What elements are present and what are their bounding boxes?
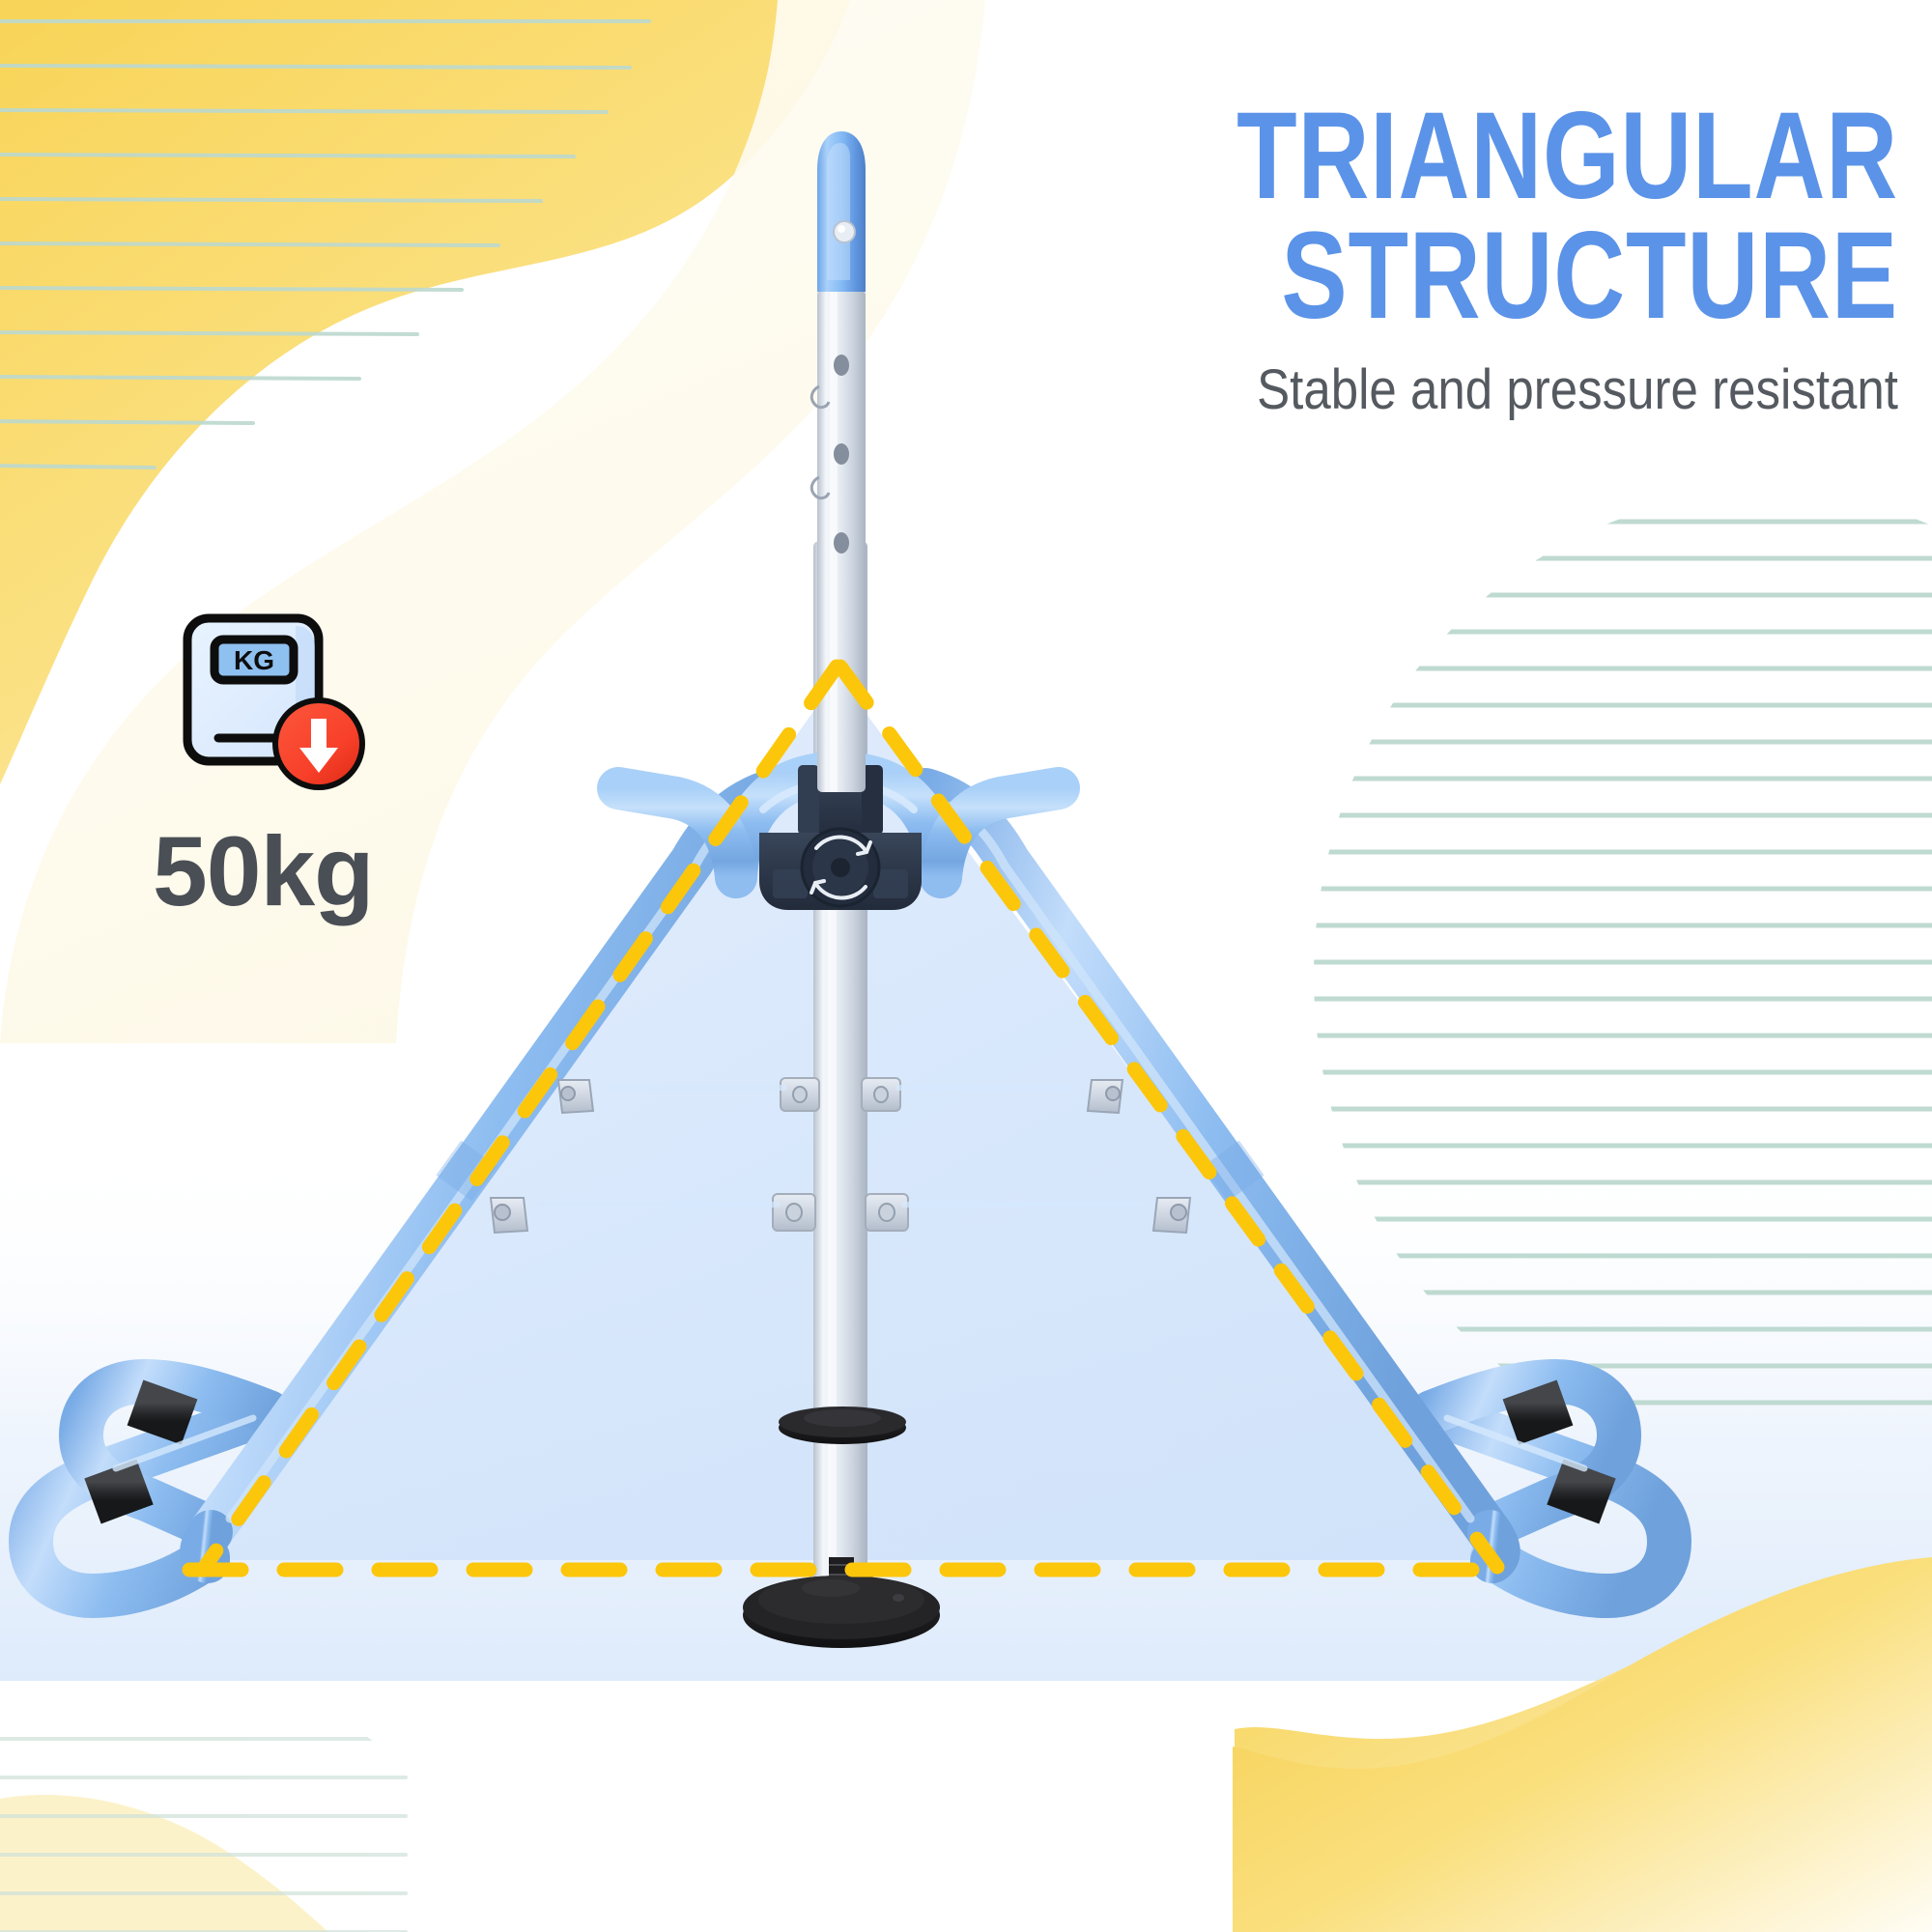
marketing-image: TRIANGULAR STRUCTURE Stable and pressure… [0,0,1932,1932]
capacity-value: 50kg [145,815,464,928]
capacity-callout: KG 50kg [145,609,464,928]
title-line-1: TRIANGULAR [1079,97,1898,216]
annotation-right-edge [840,667,1497,1567]
weight-scale-icon: KG [174,609,377,802]
scale-display-text: KG [234,645,274,675]
subtitle: Stable and pressure resistant [997,361,1898,420]
headline-block: TRIANGULAR STRUCTURE Stable and pressure… [874,97,1898,420]
down-arrow-badge [272,697,365,790]
title-line-2: STRUCTURE [1079,216,1898,336]
